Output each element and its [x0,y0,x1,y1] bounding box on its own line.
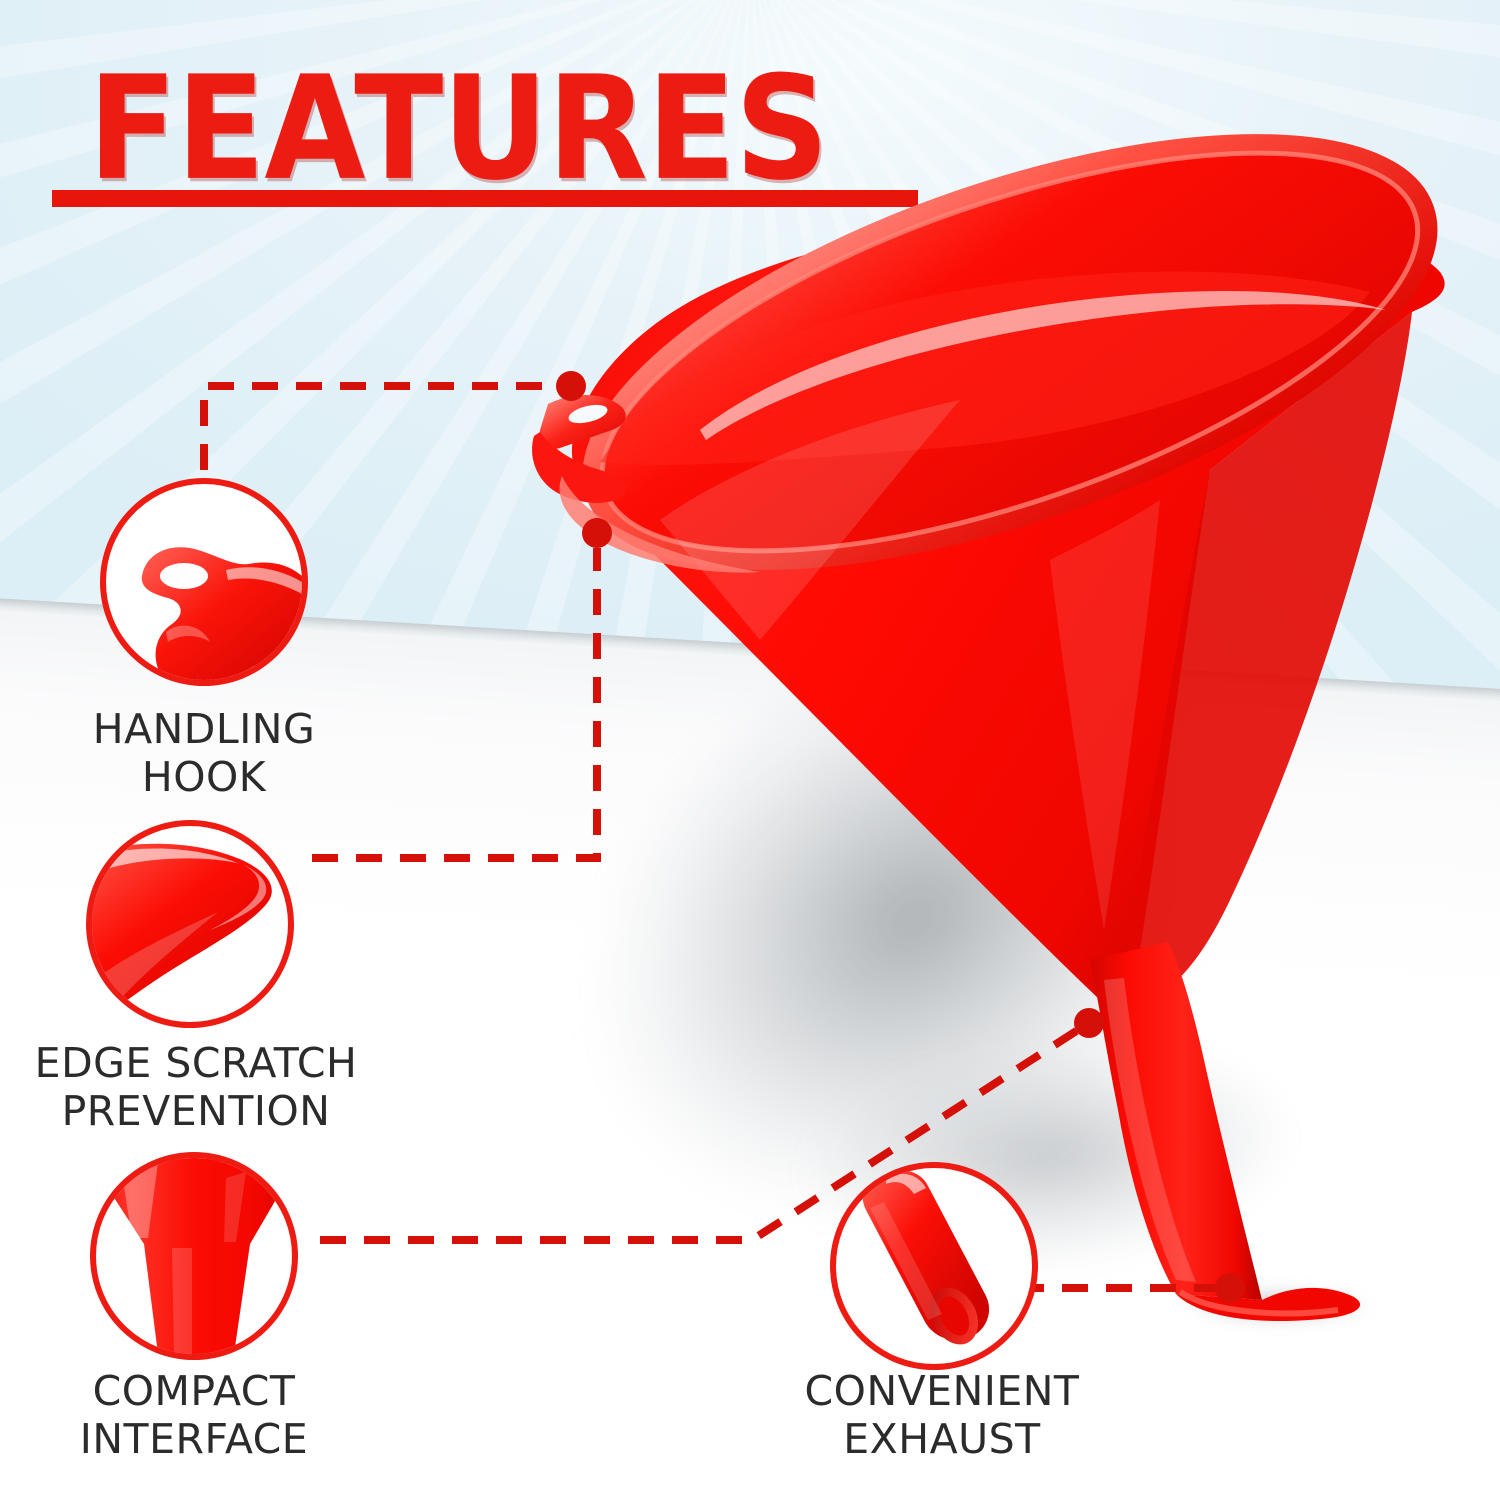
label-handling-hook: HANDLING HOOK [24,706,384,802]
handling-hook-detail-icon [106,484,302,680]
convenient-exhaust-detail-icon [836,1168,1032,1364]
callout-handling-hook[interactable] [100,478,308,686]
callout-compact-interface[interactable] [90,1152,298,1360]
callout-convenient-exhaust[interactable] [830,1162,1038,1370]
label-edge-scratch-prevention: EDGE SCRATCH PREVENTION [0,1040,396,1136]
neck-highlight-2 [172,1248,192,1354]
edge-scratch-prevention-detail-icon [92,826,288,1022]
label-compact-interface: COMPACT INTERFACE [14,1368,374,1464]
label-convenient-exhaust: CONVENIENT EXHAUST [752,1368,1132,1464]
callout-edge-scratch-prevention[interactable] [86,820,294,1028]
infographic-canvas: FEATURES [0,0,1500,1500]
compact-interface-detail-icon [96,1158,292,1354]
hook-hole [160,563,208,589]
